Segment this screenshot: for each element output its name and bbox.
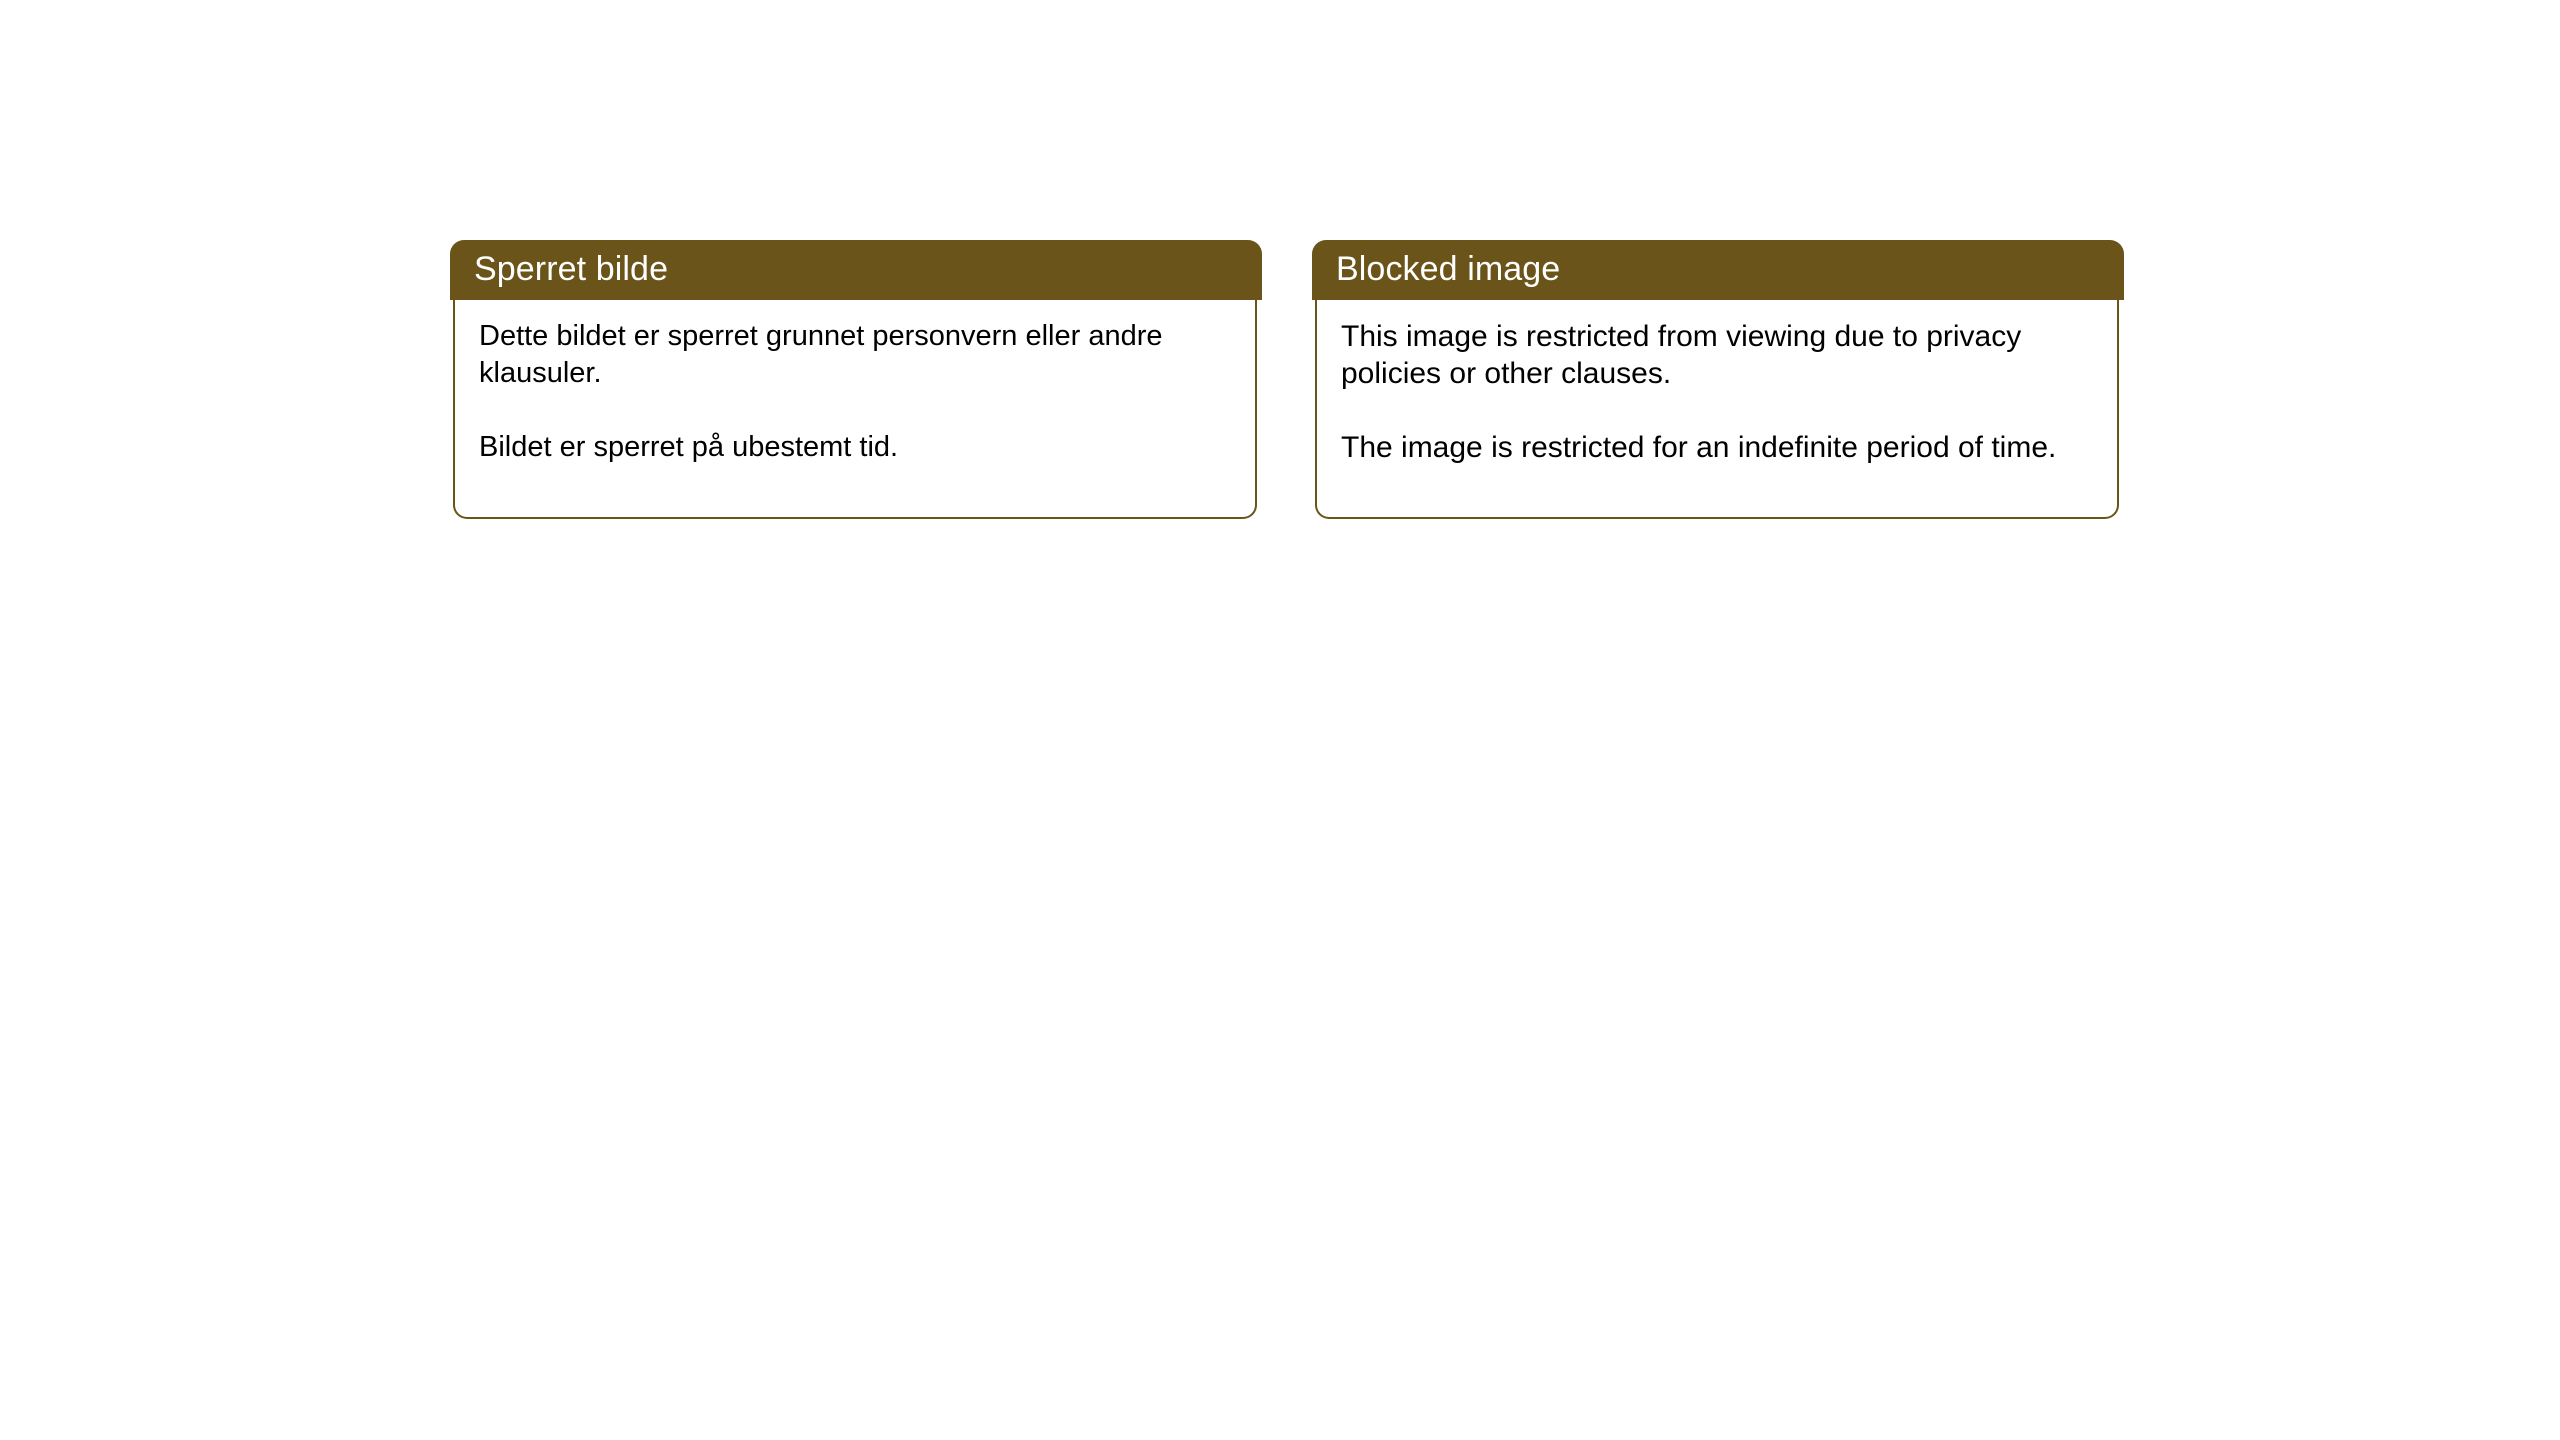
notice-paragraph-reason-english: This image is restricted from viewing du… bbox=[1341, 318, 2103, 392]
blocked-image-notice-norwegian: Sperret bilde Dette bildet er sperret gr… bbox=[450, 240, 1262, 519]
blocked-image-notice-group: Sperret bilde Dette bildet er sperret gr… bbox=[450, 240, 2124, 519]
notice-title-norwegian: Sperret bilde bbox=[474, 252, 668, 288]
page-root: Sperret bilde Dette bildet er sperret gr… bbox=[0, 0, 2560, 1440]
notice-title-english: Blocked image bbox=[1336, 252, 1560, 288]
notice-paragraph-duration-english: The image is restricted for an indefinit… bbox=[1341, 429, 2103, 466]
notice-header-norwegian: Sperret bilde bbox=[450, 240, 1262, 300]
notice-body-english: This image is restricted from viewing du… bbox=[1315, 300, 2119, 519]
notice-paragraph-reason-norwegian: Dette bildet er sperret grunnet personve… bbox=[479, 318, 1233, 392]
notice-body-norwegian: Dette bildet er sperret grunnet personve… bbox=[453, 300, 1257, 519]
blocked-image-notice-english: Blocked image This image is restricted f… bbox=[1312, 240, 2124, 519]
notice-paragraph-duration-norwegian: Bildet er sperret på ubestemt tid. bbox=[479, 429, 1233, 466]
notice-header-english: Blocked image bbox=[1312, 240, 2124, 300]
